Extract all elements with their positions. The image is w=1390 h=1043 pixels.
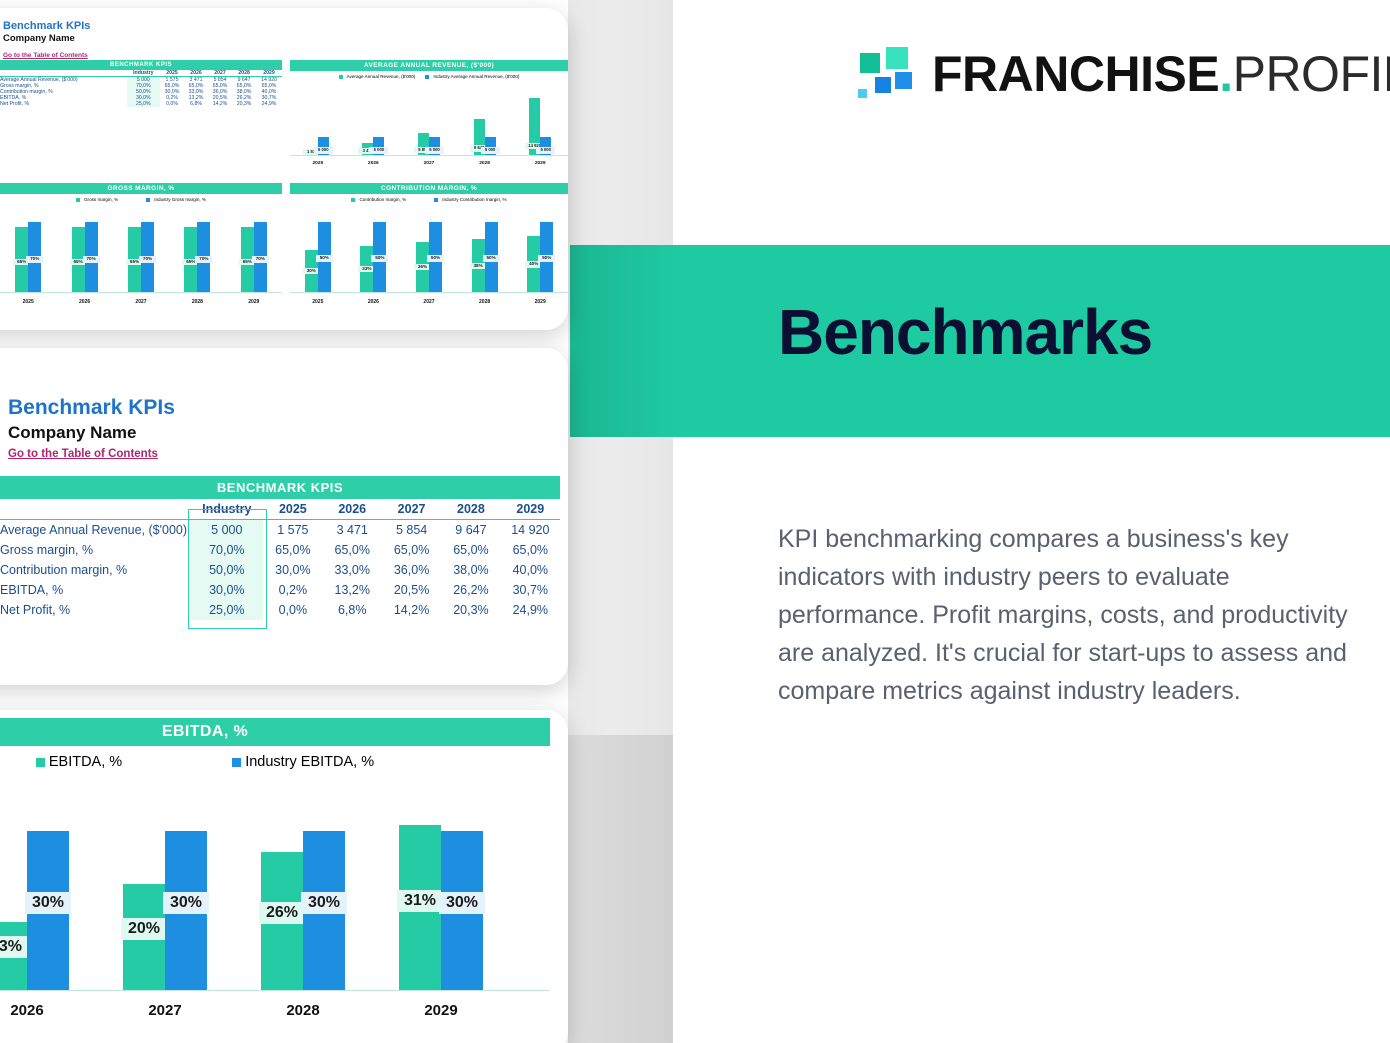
logo-square-blue-small: [856, 87, 869, 100]
x-axis-label-2027: 2027: [401, 299, 457, 305]
kpi-cell: 24,9%: [256, 101, 282, 107]
kpi-cell: 6,8%: [184, 101, 208, 107]
slide-canvas: FRANCHISE.PROFILES Benchmarks KPI benchm…: [0, 0, 1390, 1043]
chart-legend: Average Annual Revenue, ($'000) Industry…: [290, 74, 568, 79]
kpi-cell: 20,3%: [232, 101, 256, 107]
hero-band-shadow: [570, 245, 675, 437]
chart-plot-area: 1 5755 00020253 4715 00020265 8545 00020…: [290, 83, 568, 167]
kpi-cell: 38,0%: [441, 560, 500, 580]
kpi-cell: 9 647: [441, 520, 500, 541]
kpi-cell: 65,0%: [323, 540, 382, 560]
kpi-cell: 26,2%: [441, 580, 500, 600]
logo-word-dot: .: [1219, 46, 1232, 102]
legend-label: Contribution margin, %: [359, 197, 406, 202]
kpi-header-row: Industry 2025 2026 2027 2028 2029: [0, 499, 560, 520]
legend-item: Gross margin, %: [76, 197, 118, 202]
kpi-cell: 20,3%: [441, 600, 500, 620]
kpi-cell: 24,9%: [501, 600, 560, 620]
logo-square-blue-right: [893, 70, 914, 91]
x-axis-label-2026: 2026: [346, 161, 402, 166]
sheet-subtitle-small: Company Name: [3, 33, 90, 44]
data-label-revenue-2029-s1: 5 000: [536, 147, 555, 153]
kpi-cell: 13,2%: [323, 580, 382, 600]
legend-item: EBITDA, %: [36, 754, 122, 770]
x-axis-label-2029: 2029: [512, 299, 568, 305]
data-label-contribution-margin-2027-s1: 50%: [427, 255, 444, 262]
kpi-row-label: Contribution margin, %: [0, 560, 190, 580]
x-axis-label-2028: 2028: [234, 1002, 372, 1019]
data-label-ebitda-2026-s1: 30%: [25, 892, 71, 914]
dashboard-card-top: Benchmark KPIs Company Name Go to the Ta…: [0, 8, 568, 330]
kpi-cell: 30,7%: [501, 580, 560, 600]
dashboard-card-bottom: EBITDA, % EBITDA, % Industry EBITDA, % 3…: [0, 710, 568, 1043]
kpi-cell: 0,0%: [160, 101, 184, 107]
legend-swatch-icon: [76, 198, 80, 202]
legend-item: Average Annual Revenue, ($'000): [339, 74, 416, 79]
kpi-cell: 1 575: [263, 520, 322, 541]
legend-label: Industry Contribution margin, %: [442, 197, 506, 202]
toc-link-small[interactable]: Go to the Table of Contents: [3, 52, 88, 59]
legend-swatch-icon: [232, 758, 241, 767]
table-row: EBITDA, % 30,0% 0,2% 13,2% 20,5% 26,2% 3…: [0, 580, 560, 600]
kpi-cell: 3 471: [323, 520, 382, 541]
kpi-col-2028: 2028: [441, 499, 500, 520]
kpi-cell: 65,0%: [382, 540, 441, 560]
kpi-cell: 6,8%: [323, 600, 382, 620]
x-axis-line: [290, 155, 568, 156]
x-axis-line: [0, 292, 282, 293]
kpi-cell: 0,2%: [263, 580, 322, 600]
logo-squares-icon: [852, 45, 914, 103]
x-axis-line: [0, 990, 550, 991]
kpi-cell: 65,0%: [501, 540, 560, 560]
sheet-title: Benchmark KPIs: [8, 396, 175, 420]
kpi-table-banner-row: BENCHMARK KPIS: [0, 60, 282, 70]
chart-title: CONTRIBUTION MARGIN, %: [290, 183, 568, 194]
table-row: Contribution margin, % 50,0% 30,0% 33,0%…: [0, 560, 560, 580]
logo-word-franchise: FRANCHISE: [932, 46, 1219, 102]
logo-wordmark: FRANCHISE.PROFILES: [932, 49, 1390, 99]
kpi-row-label: Net Profit, %: [0, 600, 190, 620]
legend-item: Industry Gross margin, %: [146, 197, 206, 202]
sheet-subtitle: Company Name: [8, 423, 175, 443]
legend-label: EBITDA, %: [49, 754, 122, 770]
kpi-cell: 25,0%: [190, 600, 263, 620]
chart-title: AVERAGE ANNUAL REVENUE, ($'000): [290, 60, 568, 71]
sheet-title-small: Benchmark KPIs: [3, 20, 90, 32]
x-axis-label-2026: 2026: [56, 299, 112, 305]
chart-contribution-margin-small: CONTRIBUTION MARGIN, % Contribution marg…: [290, 183, 568, 323]
data-label-gross-margin-2025-s1: 70%: [26, 256, 43, 263]
table-row: Net Profit, % 25,0% 0,0% 6,8% 14,2% 20,3…: [0, 101, 282, 107]
data-label-revenue-2027-s1: 5 000: [425, 147, 444, 153]
kpi-cell: 33,0%: [323, 560, 382, 580]
data-label-gross-margin-2029-s1: 70%: [252, 256, 269, 263]
legend-item: Industry Average Annual Revenue, ($'000): [425, 74, 519, 79]
kpi-table-banner: BENCHMARK KPIS: [0, 476, 560, 499]
data-label-gross-margin-2027-s1: 70%: [139, 256, 156, 263]
kpi-cell: 65,0%: [263, 540, 322, 560]
x-axis-label-2026: 2026: [0, 1002, 96, 1019]
logo-square-blue-mid: [873, 75, 893, 95]
chart-title: EBITDA, %: [0, 718, 550, 746]
data-label-revenue-2025-s1: 5 000: [314, 147, 333, 153]
x-axis-label-2028: 2028: [457, 161, 513, 166]
kpi-col-industry: Industry: [190, 499, 263, 520]
kpi-cell: 5 854: [382, 520, 441, 541]
kpi-cell: 5 000: [190, 520, 263, 541]
kpi-cell: 20,5%: [382, 580, 441, 600]
x-axis-label-2027: 2027: [401, 161, 457, 166]
x-axis-label-2026: 2026: [346, 299, 402, 305]
data-label-gross-margin-2028-s1: 70%: [195, 256, 212, 263]
table-row: Gross margin, % 70,0% 65,0% 65,0% 65,0% …: [0, 540, 560, 560]
kpi-cell: 40,0%: [501, 560, 560, 580]
kpi-cell: 25,0%: [127, 101, 160, 107]
kpi-cell: 0,0%: [263, 600, 322, 620]
data-label-ebitda-2026-s0: 13%: [0, 936, 29, 958]
data-label-contribution-margin-2026-s1: 50%: [371, 255, 388, 262]
toc-link[interactable]: Go to the Table of Contents: [8, 448, 158, 460]
legend-item: Industry EBITDA, %: [232, 754, 374, 770]
data-label-ebitda-2028-s1: 30%: [301, 892, 347, 914]
data-label-gross-margin-2026-s1: 70%: [83, 256, 100, 263]
x-axis-label-2025: 2025: [0, 299, 56, 305]
data-label-contribution-margin-2025-s1: 50%: [316, 255, 333, 262]
chart-legend: EBITDA, % Industry EBITDA, %: [0, 754, 550, 770]
dashboard-card-middle: Benchmark KPIs Company Name Go to the Ta…: [0, 348, 568, 685]
legend-swatch-icon: [425, 75, 429, 79]
legend-swatch-icon: [146, 198, 150, 202]
legend-label: Industry Average Annual Revenue, ($'000): [433, 74, 519, 79]
table-row: Net Profit, % 25,0% 0,0% 6,8% 14,2% 20,3…: [0, 600, 560, 620]
brand-logo: FRANCHISE.PROFILES: [852, 45, 1390, 103]
legend-swatch-icon: [351, 198, 355, 202]
legend-label: Gross margin, %: [84, 197, 118, 202]
data-label-ebitda-2028-s0: 26%: [259, 902, 305, 924]
legend-swatch-icon: [36, 758, 45, 767]
x-axis-label-2025: 2025: [290, 299, 346, 305]
chart-legend: Gross margin, % Industry Gross margin, %: [0, 197, 282, 202]
kpi-cell: 30,0%: [263, 560, 322, 580]
data-label-ebitda-2029-s0: 31%: [397, 890, 443, 912]
x-axis-label-2027: 2027: [96, 1002, 234, 1019]
kpi-cell: 14,2%: [208, 101, 232, 107]
kpi-table-small: BENCHMARK KPIS Industry 2025 2026 2027 2…: [0, 60, 282, 107]
chart-plot-area: 30%202513%30%202620%30%202726%30%202831%…: [0, 786, 550, 1021]
x-axis-label-2025: 2025: [290, 161, 346, 166]
data-label-revenue-2028-s1: 5 000: [481, 147, 500, 153]
x-axis-label-2029: 2029: [512, 161, 568, 166]
legend-label: Industry EBITDA, %: [245, 754, 374, 770]
chart-ebitda: EBITDA, % EBITDA, % Industry EBITDA, % 3…: [0, 718, 550, 1021]
x-axis-label-2029: 2029: [372, 1002, 510, 1019]
chart-gross-margin-small: GROSS MARGIN, % Gross margin, % Industry…: [0, 183, 282, 323]
data-label-ebitda-2027-s1: 30%: [163, 892, 209, 914]
logo-word-profiles: PROFILES: [1233, 46, 1390, 102]
chart-plot-area: 30%50%202533%50%202636%50%202738%50%2028…: [290, 206, 568, 306]
grey-gutter-band-lower: [568, 735, 673, 1043]
data-label-contribution-margin-2028-s1: 50%: [483, 255, 500, 262]
table-row: Average Annual Revenue, ($'000) 5 000 1 …: [0, 520, 560, 541]
logo-square-teal-dark: [858, 51, 882, 75]
kpi-table: BENCHMARK KPIS Industry 2025 2026 2027 2…: [0, 476, 560, 620]
data-label-ebitda-2027-s0: 20%: [121, 918, 167, 940]
chart-plot-area: 65%70%202565%70%202665%70%202765%70%2028…: [0, 206, 282, 306]
legend-swatch-icon: [434, 198, 438, 202]
kpi-table-banner-row: BENCHMARK KPIS: [0, 476, 560, 499]
chart-revenue-small: AVERAGE ANNUAL REVENUE, ($'000) Average …: [290, 60, 568, 182]
kpi-col-2025: 2025: [263, 499, 322, 520]
kpi-row-label: Net Profit, %: [0, 101, 127, 107]
chart-legend: Contribution margin, % Industry Contribu…: [290, 197, 568, 202]
legend-item: Contribution margin, %: [351, 197, 406, 202]
legend-item: Industry Contribution margin, %: [434, 197, 506, 202]
kpi-cell: 30,0%: [190, 580, 263, 600]
x-axis-label-2028: 2028: [169, 299, 225, 305]
data-label-revenue-2026-s1: 5 000: [369, 147, 388, 153]
kpi-col-2026: 2026: [323, 499, 382, 520]
data-label-ebitda-2029-s1: 30%: [439, 892, 485, 914]
kpi-row-label: Average Annual Revenue, ($'000): [0, 520, 190, 541]
kpi-col-2029: 2029: [501, 499, 560, 520]
data-label-contribution-margin-2029-s1: 50%: [538, 255, 555, 262]
kpi-cell: 70,0%: [190, 540, 263, 560]
kpi-row-label: EBITDA, %: [0, 580, 190, 600]
chart-title: GROSS MARGIN, %: [0, 183, 282, 194]
kpi-row-label: Gross margin, %: [0, 540, 190, 560]
kpi-table-banner: BENCHMARK KPIS: [0, 60, 282, 70]
legend-label: Average Annual Revenue, ($'000): [347, 74, 416, 79]
hero-paragraph: KPI benchmarking compares a business's k…: [778, 520, 1353, 710]
x-axis-label-2028: 2028: [457, 299, 513, 305]
x-axis-label-2027: 2027: [113, 299, 169, 305]
page-title: Benchmarks: [778, 300, 1152, 364]
x-axis-label-2029: 2029: [226, 299, 282, 305]
kpi-cell: 14,2%: [382, 600, 441, 620]
kpi-cell: 50,0%: [190, 560, 263, 580]
legend-swatch-icon: [339, 75, 343, 79]
kpi-col-2027: 2027: [382, 499, 441, 520]
kpi-cell: 36,0%: [382, 560, 441, 580]
logo-square-teal-light: [884, 45, 910, 71]
kpi-cell: 14 920: [501, 520, 560, 541]
kpi-cell: 65,0%: [441, 540, 500, 560]
x-axis-line: [290, 292, 568, 293]
legend-label: Industry Gross margin, %: [154, 197, 206, 202]
